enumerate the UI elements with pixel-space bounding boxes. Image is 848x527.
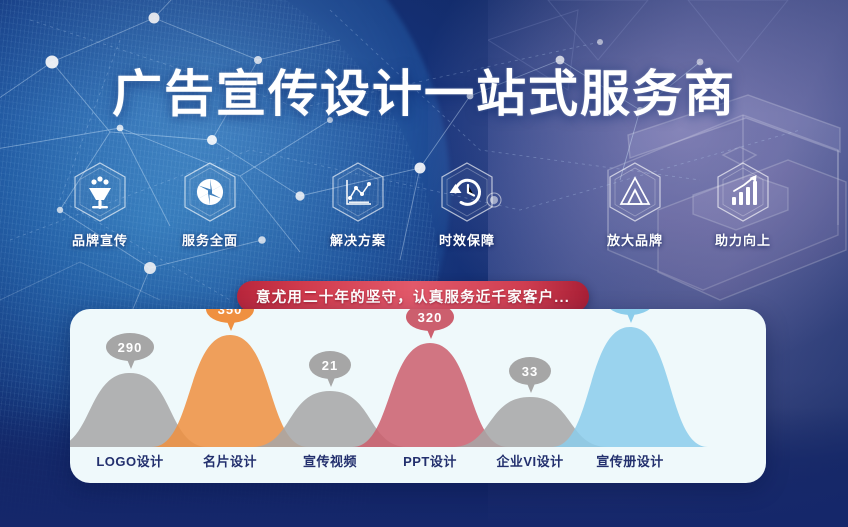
- feature-label: 放大品牌: [580, 230, 690, 249]
- feature-item-amplify-brand[interactable]: 放大品牌: [580, 160, 690, 249]
- feature-item-full-service[interactable]: 服务全面: [155, 160, 265, 249]
- value-bubble: 560: [606, 309, 654, 315]
- value-bubble-tail: [226, 319, 236, 331]
- chart-category-labels: LOGO设计名片设计宣传视频PPT设计企业VI设计宣传册设计: [70, 451, 766, 475]
- value-bubble-tail: [126, 357, 136, 369]
- line-chart-icon: [328, 160, 388, 224]
- value-bubble-tail: [326, 375, 336, 387]
- value-bubble: 350: [206, 309, 254, 323]
- triangle-pyramid-icon: [605, 160, 665, 224]
- clock-rewind-icon: [437, 160, 497, 224]
- aperture-icon: [180, 160, 240, 224]
- feature-icon-row: 品牌宣传 服务全面: [0, 160, 848, 250]
- feature-label: 解决方案: [303, 230, 413, 249]
- value-bubble: 33: [509, 357, 551, 385]
- value-bubble: 21: [309, 351, 351, 379]
- value-bubble-tail: [426, 327, 436, 339]
- chart-panel: LOGO设计名片设计宣传视频PPT设计企业VI设计宣传册设计 290350213…: [70, 309, 766, 483]
- value-bubble: 290: [106, 333, 154, 361]
- feature-label: 服务全面: [155, 230, 265, 249]
- feature-label: 品牌宣传: [45, 230, 155, 249]
- feature-item-brand-promotion[interactable]: 品牌宣传: [45, 160, 155, 249]
- tagline-banner: 意尤用二十年的坚守，认真服务近千家客户...: [237, 281, 589, 312]
- promo-banner-image: 广告宣传设计一站式服务商 品牌宣传: [0, 0, 848, 527]
- feature-label: 时效保障: [412, 230, 522, 249]
- feature-label: 助力向上: [688, 230, 798, 249]
- value-bubble-tail: [626, 311, 636, 323]
- chart-category-label: 宣传册设计: [570, 451, 690, 470]
- tagline-text: 意尤用二十年的坚守，认真服务近千家客户...: [256, 286, 570, 307]
- value-bubble: 320: [406, 309, 454, 331]
- megaphone-icon: [70, 160, 130, 224]
- chart-area-5: [552, 327, 708, 447]
- feature-item-solutions[interactable]: 解决方案: [303, 160, 413, 249]
- feature-item-boost-growth[interactable]: 助力向上: [688, 160, 798, 249]
- feature-item-timeliness[interactable]: 时效保障: [412, 160, 522, 249]
- page-title: 广告宣传设计一站式服务商: [0, 54, 848, 126]
- bar-chart-up-icon: [713, 160, 773, 224]
- bell-curve-chart: [70, 309, 766, 459]
- value-bubble-tail: [526, 381, 536, 393]
